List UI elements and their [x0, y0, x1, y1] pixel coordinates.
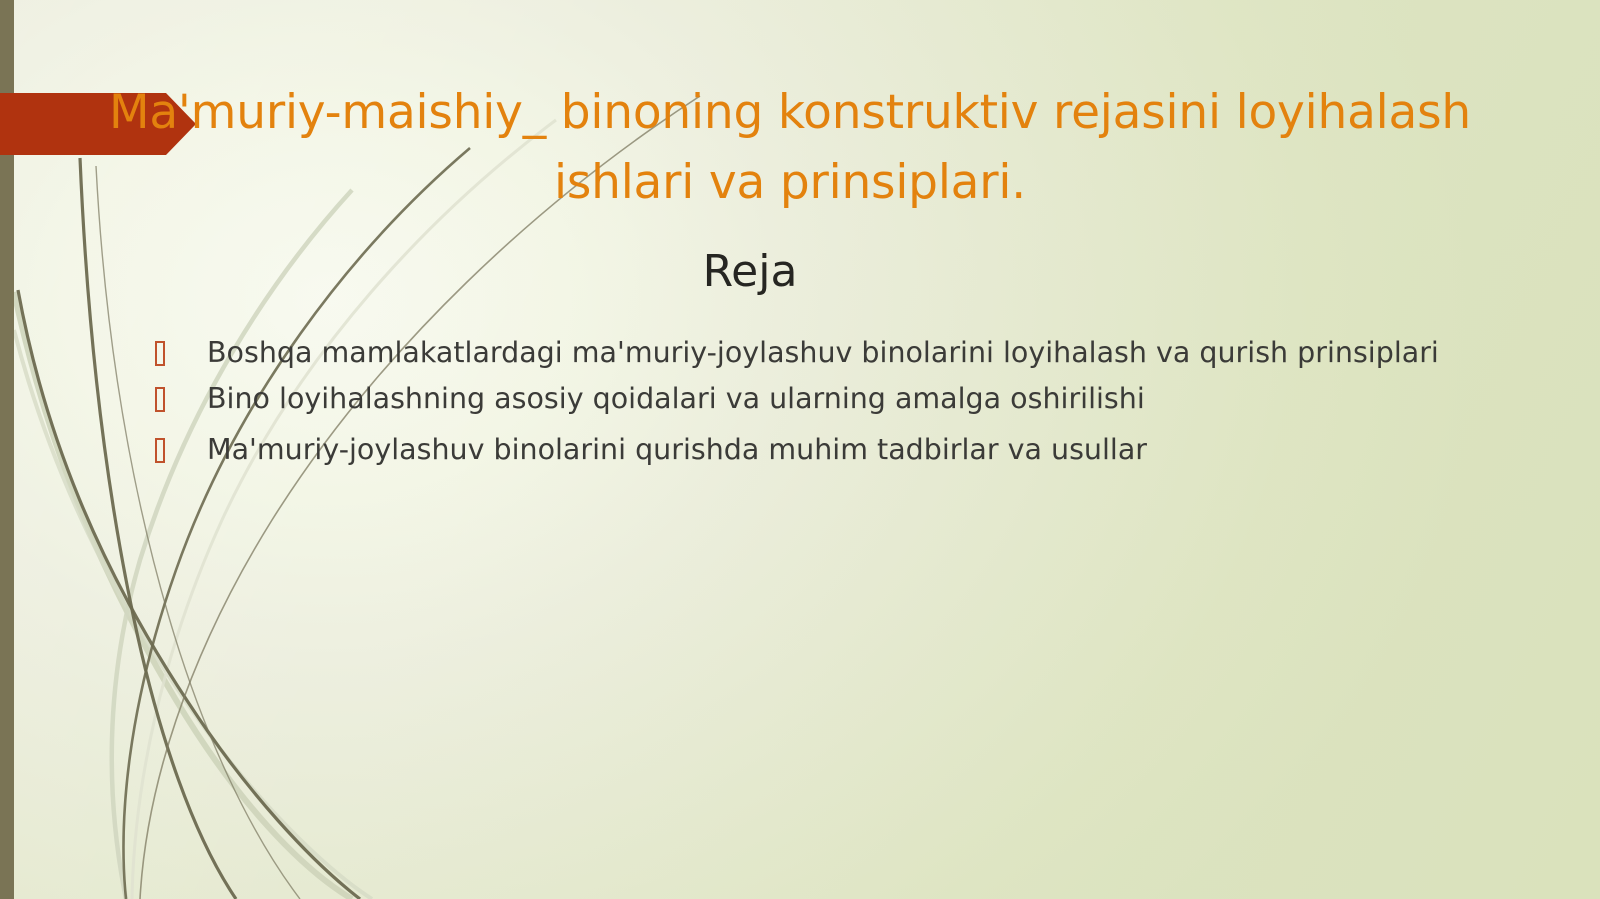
list-item: Ma'muriy-joylashuv binolarini qurishda m… [150, 431, 1440, 468]
slide-subtitle-reja: Reja [140, 248, 1360, 296]
bullet-box-icon [155, 341, 165, 366]
list-item-label: Ma'muriy-joylashuv binolarini qurishda m… [207, 431, 1440, 468]
bullet-box-icon [155, 387, 165, 412]
list-item: Boshqa mamlakatlardagi ma'muriy-joylashu… [150, 334, 1440, 371]
agenda-bullet-list: Boshqa mamlakatlardagi ma'muriy-joylashu… [150, 334, 1440, 482]
list-item: Bino loyihalashning asosiy qoidalari va … [150, 380, 1440, 417]
bullet-box-icon [155, 438, 165, 463]
slide-title: Ma'muriy-maishiy_ binoning konstruktiv r… [100, 78, 1480, 217]
list-item-label: Boshqa mamlakatlardagi ma'muriy-joylashu… [207, 334, 1440, 371]
presentation-slide: Ma'muriy-maishiy_ binoning konstruktiv r… [0, 0, 1600, 899]
list-item-label: Bino loyihalashning asosiy qoidalari va … [207, 380, 1440, 417]
